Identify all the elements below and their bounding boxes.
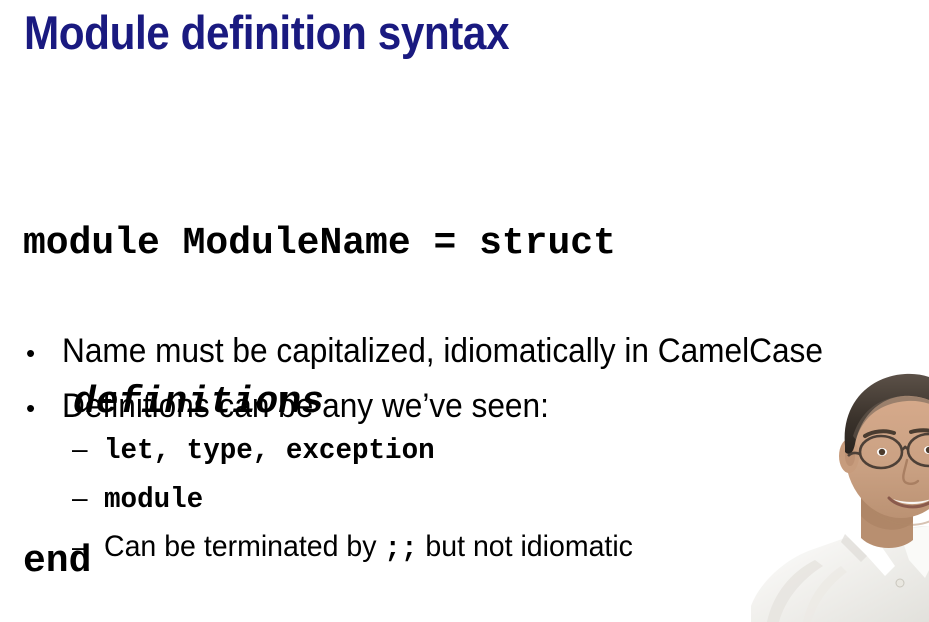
bullet-dot-icon: • [26,327,62,380]
sub-list-item: – Can be terminated by ;; but not idioma… [72,523,912,572]
sub-list-item-text-trailing: but not idiomatic [417,530,632,563]
code-token: let, type, exception [104,434,435,467]
bullet-dot-icon: • [26,382,62,435]
sub-list-item-label: module [104,474,203,523]
dash-marker-icon: – [72,425,104,472]
sub-list-item: – let, type, exception [72,425,912,474]
list-item-label: Name must be capitalized, idiomatically … [62,325,823,378]
lecture-slide: Module definition syntax module ModuleNa… [0,0,929,622]
list-item: • Name must be capitalized, idiomaticall… [26,325,916,380]
sub-list-item-label: Can be terminated by ;; but not idiomati… [104,523,633,572]
code-token: ;; [384,532,417,565]
bullet-list: • Name must be capitalized, idiomaticall… [26,325,916,435]
sub-bullet-list: – let, type, exception – module – Can be… [72,425,912,572]
dash-marker-icon: – [72,523,104,570]
code-line: module ModuleName = struct [23,217,616,270]
code-token: module [104,483,203,516]
sub-list-item: – module [72,474,912,523]
sub-list-item-text-leading: Can be terminated by [104,530,384,563]
sub-list-item-label: let, type, exception [104,425,435,474]
dash-marker-icon: – [72,474,104,521]
page-title: Module definition syntax [24,4,509,62]
